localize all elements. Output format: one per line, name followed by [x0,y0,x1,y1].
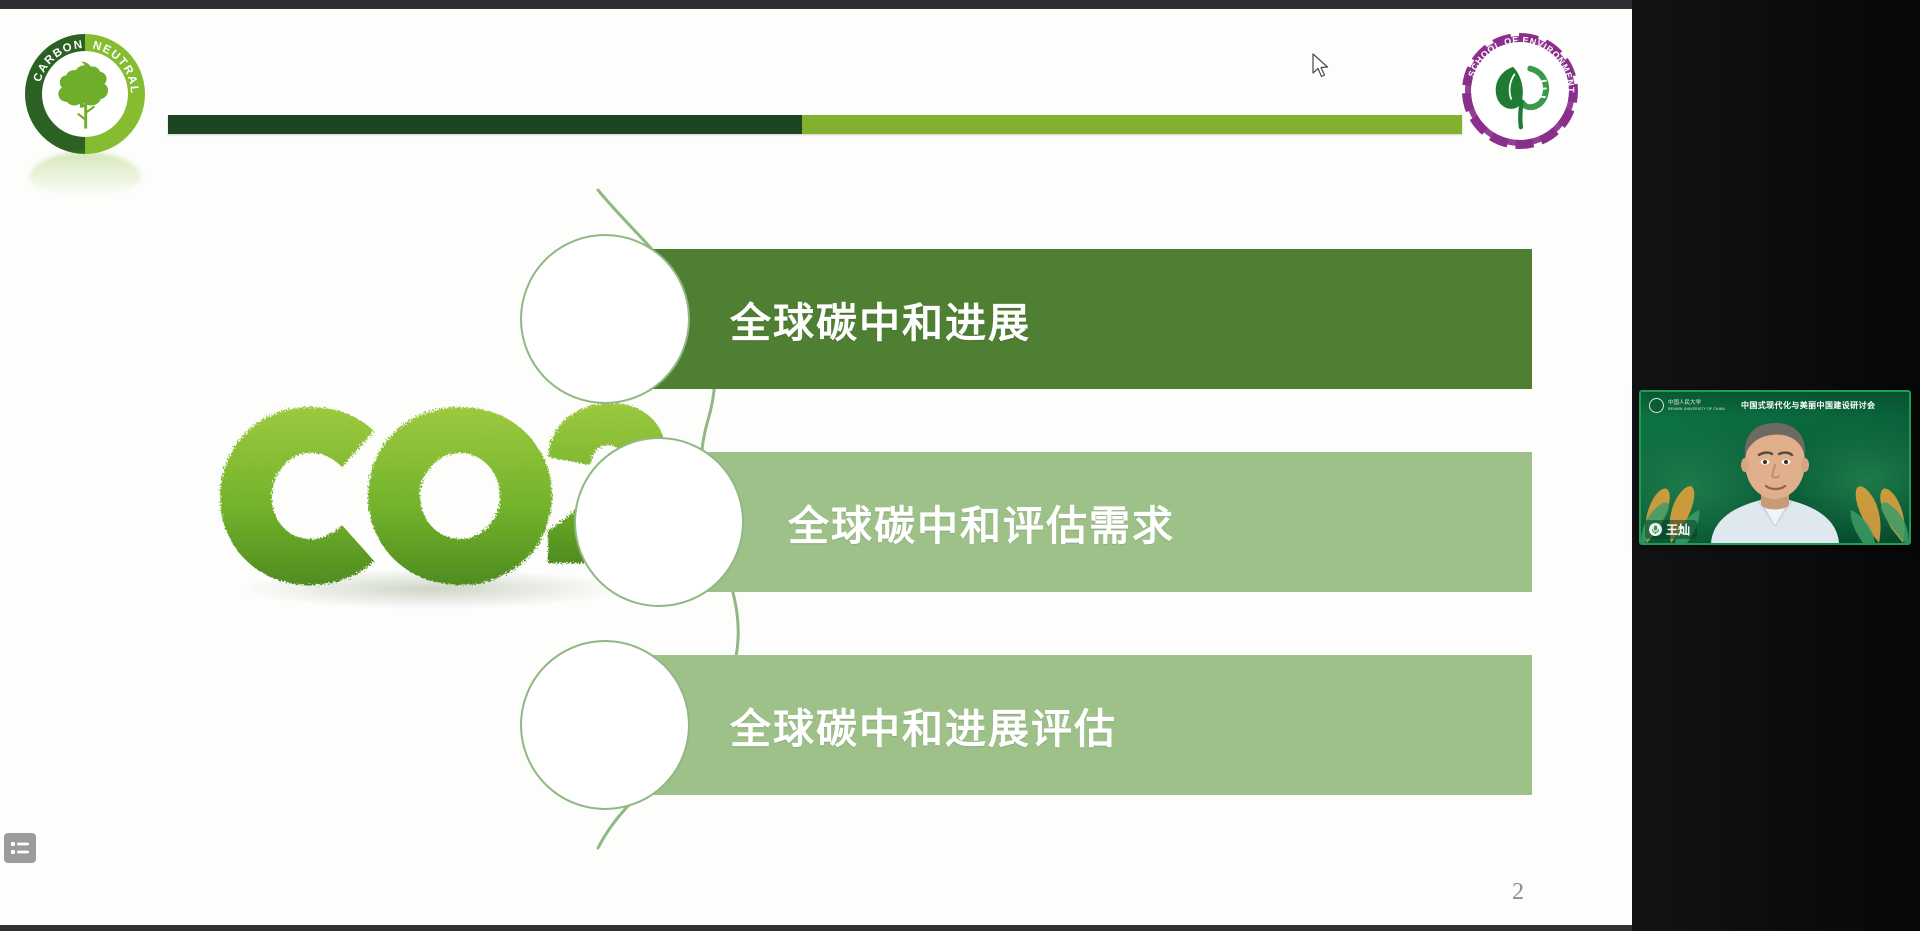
svg-text:SCHOOL OF ENVIRONMENT: SCHOOL OF ENVIRONMENT [1466,35,1576,94]
university-seal-icon [1649,398,1664,413]
screen-share-stage: CARBON NEUTRAL [0,0,1920,931]
mouse-pointer [1311,53,1331,79]
list-icon [11,841,29,855]
header-bar-dark-segment [168,115,802,134]
decorative-plant-right [1849,438,1909,543]
participant-webcam-image [1701,415,1849,543]
agenda-label-3: 全球碳中和进展评估 [730,695,1117,755]
agenda-label-2: 全球碳中和评估需求 [788,492,1175,552]
agenda-item-2[interactable]: 全球碳中和评估需求 [678,452,1532,592]
agenda-bar-3[interactable]: 全球碳中和进展评估 [620,655,1532,795]
logo-reflection [29,152,141,196]
university-name: 中国人民大学 RENMIN UNIVERSITY OF CHINA [1668,400,1725,411]
school-of-environment-logo: SCHOOL OF ENVIRONMENT 清华大学环境学院 [1462,33,1578,149]
presentation-slide: CARBON NEUTRAL [0,9,1632,925]
outline-toggle-button[interactable] [4,833,36,863]
participant-nameplate: 王灿 [1645,520,1697,539]
slide-page-number: 2 [1512,879,1524,906]
agenda-bar-2[interactable]: 全球碳中和评估需求 [678,452,1532,592]
agenda-bar-1[interactable]: 全球碳中和进展 [620,249,1532,389]
agenda-item-1[interactable]: 全球碳中和进展 [620,249,1532,389]
window-chrome-top [0,0,1632,9]
microphone-icon[interactable] [1649,523,1662,536]
conference-title: 中国式现代化与美丽中国建设研讨会 [1741,400,1875,411]
participant-video-tile[interactable]: 中国人民大学 RENMIN UNIVERSITY OF CHINA 中国式现代化… [1639,390,1911,545]
agenda-circle-3 [520,640,690,810]
agenda-item-3[interactable]: 全球碳中和进展评估 [620,655,1532,795]
svg-text:清华大学环境学院: 清华大学环境学院 [1487,117,1555,139]
soe-arc-text: SCHOOL OF ENVIRONMENT 清华大学环境学院 [1462,33,1578,149]
carbon-neutral-logo: CARBON NEUTRAL [25,34,145,154]
slide-header-bar [168,115,1462,134]
agenda-circle-1 [520,234,690,404]
participant-name: 王灿 [1666,524,1690,536]
header-bar-light-segment [802,115,1462,134]
agenda-label-1: 全球碳中和进展 [730,289,1031,349]
agenda-circle-2 [574,437,744,607]
tree-icon [49,59,121,131]
window-chrome-bottom [0,925,1632,931]
